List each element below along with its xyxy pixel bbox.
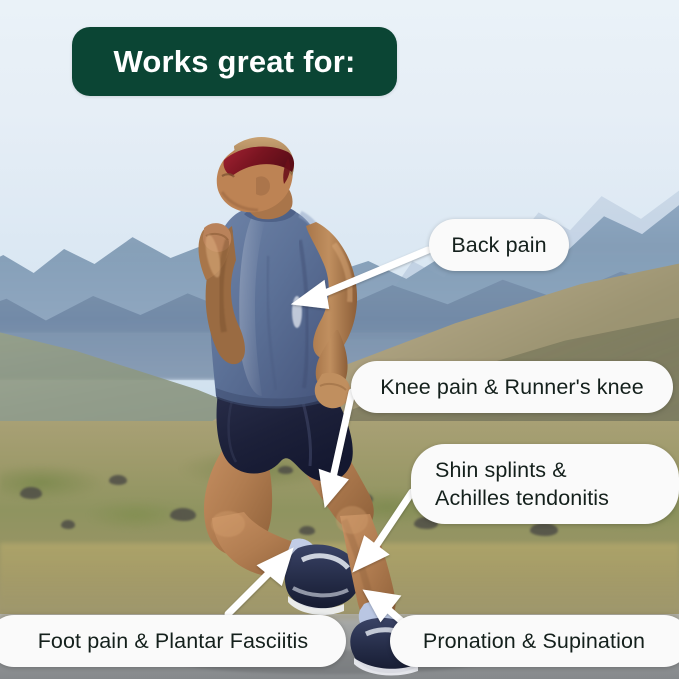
callout-pronation: Pronation & Supination bbox=[390, 615, 679, 667]
runner-head bbox=[217, 137, 294, 219]
callout-shin-splints-line2: Achilles tendonitis bbox=[419, 484, 609, 512]
callout-foot-pain-label: Foot pain & Plantar Fasciitis bbox=[38, 629, 309, 654]
runner-figure bbox=[0, 0, 679, 679]
callout-shin-splints: Shin splints & Achilles tendonitis bbox=[411, 444, 679, 524]
callout-back-pain-label: Back pain bbox=[451, 233, 546, 258]
callout-pronation-label: Pronation & Supination bbox=[423, 629, 645, 654]
badge-label: Works great for: bbox=[113, 44, 355, 80]
works-great-for-badge: Works great for: bbox=[72, 27, 397, 96]
callout-knee-pain: Knee pain & Runner's knee bbox=[351, 361, 673, 413]
infographic-canvas: Works great for: Back pain Knee pain & R… bbox=[0, 0, 679, 679]
callout-shin-splints-line1: Shin splints & bbox=[419, 456, 567, 484]
callout-back-pain: Back pain bbox=[429, 219, 569, 271]
callout-foot-pain: Foot pain & Plantar Fasciitis bbox=[0, 615, 346, 667]
callout-knee-pain-label: Knee pain & Runner's knee bbox=[380, 375, 644, 400]
